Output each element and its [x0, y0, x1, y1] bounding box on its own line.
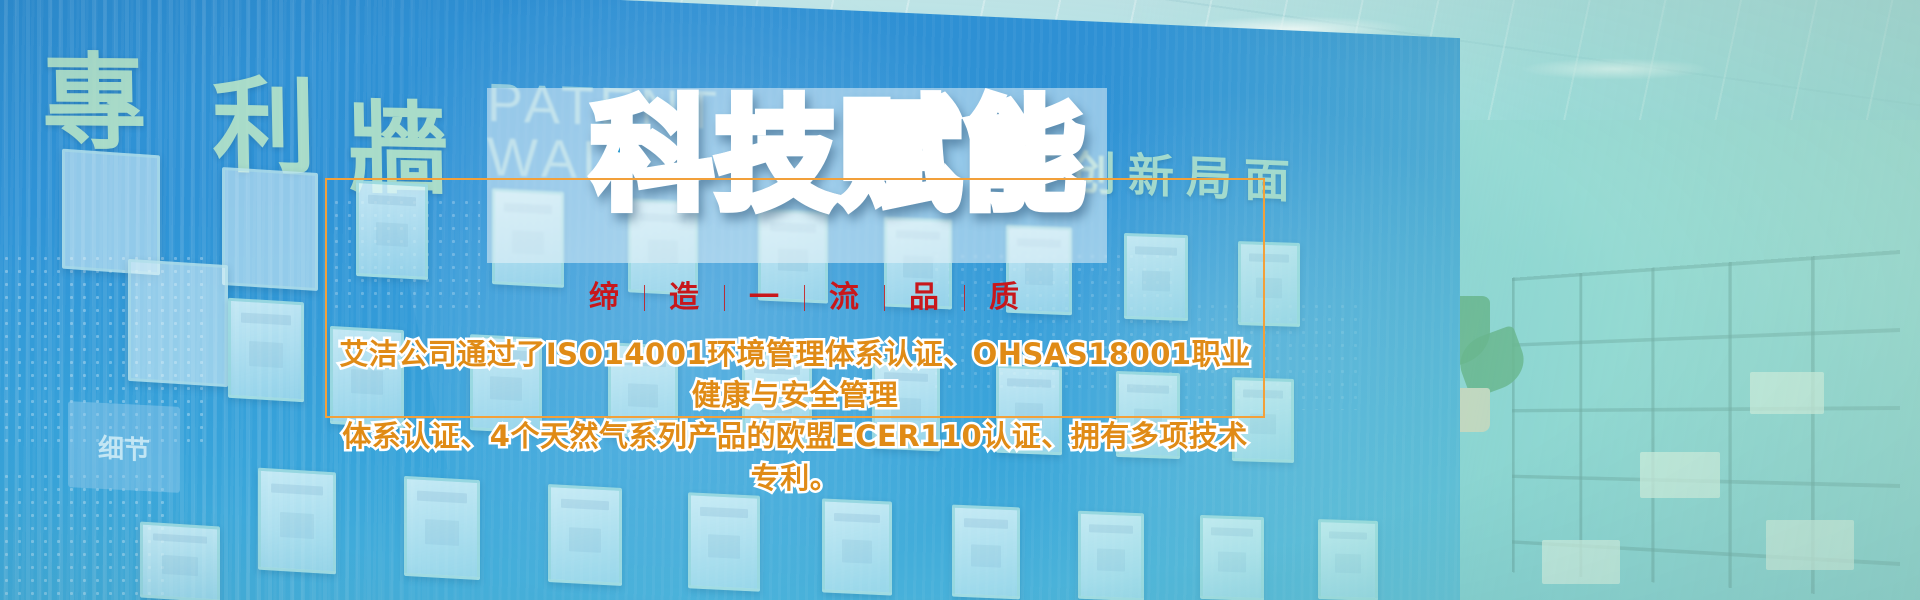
- wall-photo-frame: [62, 149, 160, 276]
- wall-label-detail: 细节: [68, 401, 180, 493]
- slogan-separator: [644, 285, 645, 311]
- wall-photo-frame: [222, 167, 318, 291]
- description-line-2: 体系认证、4个天然气系列产品的欧盟ECER110认证、拥有多项技术专利。: [330, 416, 1260, 498]
- certificate: [228, 298, 304, 403]
- certificate: [1200, 515, 1264, 600]
- certificate: [688, 492, 760, 592]
- slogan-separator: [884, 285, 885, 311]
- slogan-separator: [964, 285, 965, 311]
- wall-char-zhuan: 專: [41, 18, 150, 170]
- slogan-char-1: 缔: [589, 283, 619, 313]
- ceiling-light-icon: [1520, 58, 1710, 80]
- certificate: [1124, 233, 1188, 321]
- shelf-box: [1542, 540, 1620, 584]
- banner-title: 科技赋能: [592, 95, 1088, 217]
- shelf-box: [1766, 520, 1854, 570]
- slogan-separator: [804, 285, 805, 311]
- certificate: [952, 505, 1020, 600]
- shelf-box: [1640, 452, 1720, 498]
- shelf-box: [1750, 372, 1824, 414]
- slogan-char-3: 一: [749, 283, 779, 313]
- slogan-char-2: 造: [669, 283, 699, 313]
- banner-description: 艾洁公司通过了ISO14001环境管理体系认证、OHSAS18001职业健康与安…: [330, 334, 1260, 499]
- certificate: [822, 498, 892, 595]
- slogan-separator: [724, 285, 725, 311]
- certificate: [1078, 511, 1144, 600]
- certificate: [548, 484, 622, 586]
- slogan-char-4: 流: [829, 283, 859, 313]
- certificate: [140, 521, 220, 600]
- wall-photo-frame: [128, 259, 228, 387]
- certificate: [356, 180, 428, 280]
- description-line-1: 艾洁公司通过了ISO14001环境管理体系认证、OHSAS18001职业健康与安…: [330, 334, 1260, 416]
- certificate: [1318, 519, 1378, 600]
- slogan-char-5: 品: [909, 283, 939, 313]
- slogan-char-6: 质: [989, 283, 1019, 313]
- slogan-row: 缔 造 一 流 品 质: [589, 283, 1019, 313]
- certificate: [1238, 241, 1300, 327]
- certificate: [258, 468, 336, 575]
- promo-banner: 專 利 牆 PATENT WALL 开创新局面: [0, 0, 1920, 600]
